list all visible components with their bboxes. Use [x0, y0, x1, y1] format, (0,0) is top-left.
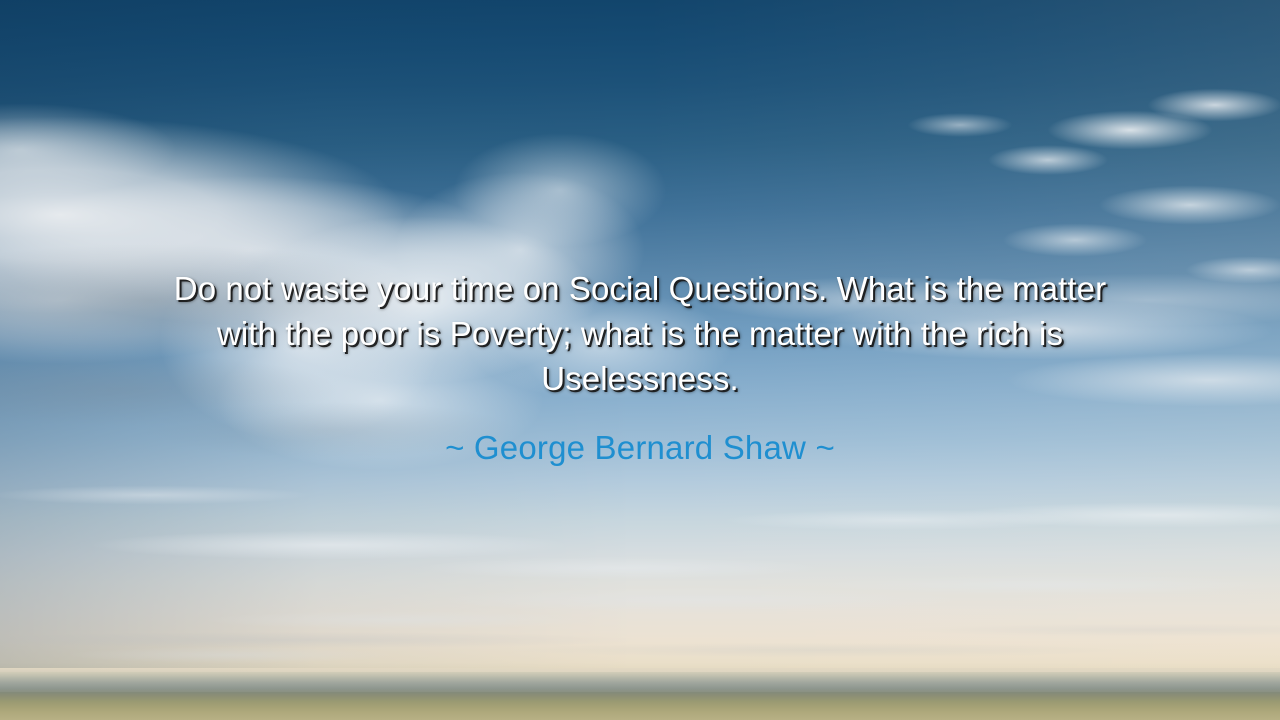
quote-text-block: Do not waste your time on Social Questio…	[0, 0, 1280, 720]
quote-attribution: ~ George Bernard Shaw ~	[445, 428, 835, 468]
quote-image: Do not waste your time on Social Questio…	[0, 0, 1280, 720]
quote-text: Do not waste your time on Social Questio…	[50, 266, 1230, 401]
